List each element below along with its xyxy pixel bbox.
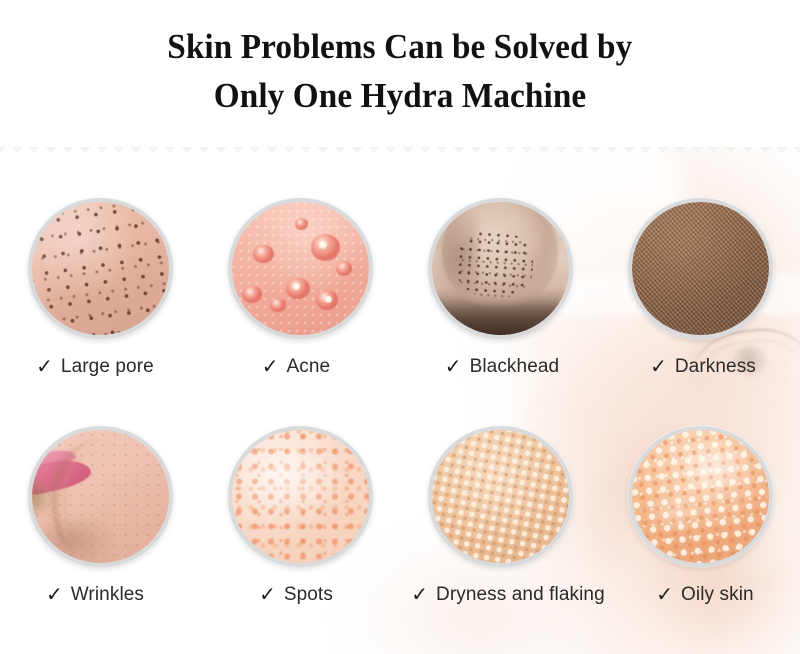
page-title-line-1: Skin Problems Can be Solved by xyxy=(167,22,632,71)
darkness-photo-circle xyxy=(628,198,773,339)
darkness-texture xyxy=(632,202,769,335)
darkness-label-row: ✓ Darkness xyxy=(650,355,756,378)
page-title-line-2: Only One Hydra Machine xyxy=(214,71,586,120)
header: Skin Problems Can be Solved by Only One … xyxy=(0,0,800,147)
blackhead-label: Blackhead xyxy=(470,356,560,378)
large-pore-photo-inner xyxy=(32,202,169,335)
acne-label-row: ✓ Acne xyxy=(262,355,330,378)
spots-highlight xyxy=(232,430,369,563)
acne-bump xyxy=(253,245,274,264)
large-pore-image-wrap xyxy=(28,198,173,339)
infographic-page: Skin Problems Can be Solved by Only One … xyxy=(0,0,800,654)
skin-problem-card-acne[interactable]: ✓ Acne xyxy=(200,150,400,378)
check-icon: ✓ xyxy=(262,356,279,376)
skin-problem-card-darkness[interactable]: ✓ Darkness xyxy=(600,150,800,378)
wrinkles-label: Wrinkles xyxy=(71,584,144,606)
oily-skin-label-row: ✓ Oily skin xyxy=(656,583,753,606)
darkness-photo-inner xyxy=(632,202,769,335)
dryness-label-row: ✓ Dryness and flaking xyxy=(411,583,605,606)
wrinkles-image-wrap xyxy=(28,426,173,567)
large-pore-label: Large pore xyxy=(61,356,154,378)
acne-image-wrap xyxy=(228,198,373,339)
check-icon: ✓ xyxy=(259,584,276,604)
skin-problem-card-large-pore[interactable]: ✓ Large pore xyxy=(0,150,200,378)
skin-problem-card-spots[interactable]: ✓ Spots xyxy=(200,378,400,606)
zigzag-divider-icon xyxy=(0,146,800,155)
blackhead-photo-inner xyxy=(432,202,569,335)
acne-whitehead xyxy=(319,241,327,249)
oily-skin-image-wrap xyxy=(628,426,773,567)
spots-image-wrap xyxy=(228,426,373,567)
large-pore-photo-circle xyxy=(28,198,173,339)
large-pore-sheen xyxy=(32,202,169,335)
oily-skin-photo-inner xyxy=(632,430,769,563)
chin-shadow xyxy=(32,520,114,563)
blackhead-dots xyxy=(454,229,535,301)
wrinkles-photo-inner xyxy=(32,430,169,563)
spots-photo-inner xyxy=(232,430,369,563)
skin-problem-card-wrinkles[interactable]: ✓ Wrinkles xyxy=(0,378,200,606)
spots-label-row: ✓ Spots xyxy=(259,583,333,606)
skin-problem-grid: ✓ Large pore xyxy=(0,150,800,654)
acne-photo-inner xyxy=(232,202,369,335)
spots-label: Spots xyxy=(284,584,333,606)
skin-problem-card-blackhead[interactable]: ✓ Blackhead xyxy=(400,150,600,378)
dryness-photo-inner xyxy=(432,430,569,563)
acne-photo-circle xyxy=(228,198,373,339)
acne-whitehead xyxy=(325,296,332,303)
dryness-label: Dryness and flaking xyxy=(436,584,605,606)
wrinkles-label-row: ✓ Wrinkles xyxy=(46,583,144,606)
check-icon: ✓ xyxy=(445,356,462,376)
dryness-photo-circle xyxy=(428,426,573,567)
check-icon: ✓ xyxy=(46,584,63,604)
dryness-image-wrap xyxy=(428,426,573,567)
check-icon: ✓ xyxy=(650,356,667,376)
wrinkles-photo-circle xyxy=(28,426,173,567)
check-icon: ✓ xyxy=(411,584,428,604)
blackhead-image-wrap xyxy=(428,198,573,339)
check-icon: ✓ xyxy=(36,356,53,376)
acne-whitehead xyxy=(293,283,300,290)
blackhead-label-row: ✓ Blackhead xyxy=(445,355,559,378)
skin-problem-card-oily-skin[interactable]: ✓ Oily skin xyxy=(600,378,800,606)
check-icon: ✓ xyxy=(656,584,673,604)
oily-skin-photo-circle xyxy=(628,426,773,567)
acne-bump xyxy=(242,286,261,303)
darkness-label: Darkness xyxy=(675,356,756,378)
dryness-texture xyxy=(432,430,569,563)
large-pore-label-row: ✓ Large pore xyxy=(36,355,154,378)
nostril-shadow xyxy=(432,298,569,335)
darkness-image-wrap xyxy=(628,198,773,339)
skin-problem-card-dryness[interactable]: ✓ Dryness and flaking xyxy=(400,378,600,606)
acne-bump xyxy=(295,218,309,230)
blackhead-photo-circle xyxy=(428,198,573,339)
acne-label: Acne xyxy=(287,356,331,378)
oily-skin-sheen xyxy=(632,430,769,563)
spots-photo-circle xyxy=(228,426,373,567)
oily-skin-label: Oily skin xyxy=(681,584,754,606)
